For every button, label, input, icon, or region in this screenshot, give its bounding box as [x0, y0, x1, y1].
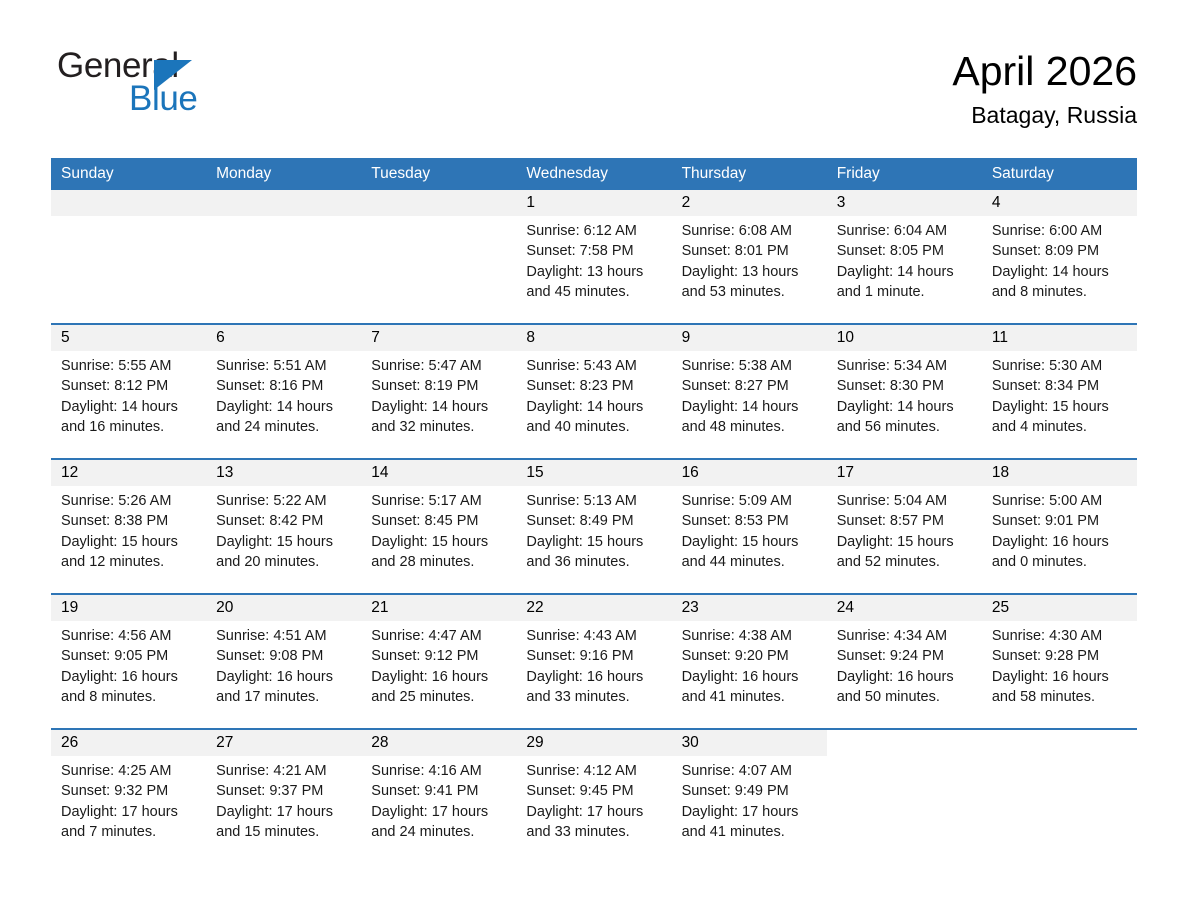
- day-detail-line: Sunrise: 4:25 AM: [61, 761, 196, 781]
- day-detail-line: and 4 minutes.: [992, 417, 1127, 437]
- day-number-band: 7: [361, 325, 516, 351]
- day-number-band: 27: [206, 730, 361, 756]
- day-detail-line: and 50 minutes.: [837, 687, 972, 707]
- day-detail-line: Sunrise: 4:07 AM: [682, 761, 817, 781]
- day-number: 9: [682, 329, 691, 346]
- day-number-band: 29: [516, 730, 671, 756]
- calendar-day-cell[interactable]: 4Sunrise: 6:00 AMSunset: 8:09 PMDaylight…: [982, 190, 1137, 324]
- day-detail-line: Daylight: 15 hours: [61, 532, 196, 552]
- day-number-band: 6: [206, 325, 361, 351]
- calendar-day-cell[interactable]: 21Sunrise: 4:47 AMSunset: 9:12 PMDayligh…: [361, 594, 516, 729]
- day-detail-line: Sunset: 9:32 PM: [61, 781, 196, 801]
- day-cell-details: Sunrise: 6:04 AMSunset: 8:05 PMDaylight:…: [827, 216, 982, 302]
- day-cell-details: Sunrise: 4:30 AMSunset: 9:28 PMDaylight:…: [982, 621, 1137, 707]
- day-number-band: 11: [982, 325, 1137, 351]
- day-number-band: 30: [672, 730, 827, 756]
- day-number: 14: [371, 464, 388, 481]
- day-detail-line: Sunrise: 4:21 AM: [216, 761, 351, 781]
- day-detail-line: and 41 minutes.: [682, 687, 817, 707]
- day-cell-details: Sunrise: 5:34 AMSunset: 8:30 PMDaylight:…: [827, 351, 982, 437]
- day-detail-line: Sunrise: 5:47 AM: [371, 356, 506, 376]
- calendar-header-row: SundayMondayTuesdayWednesdayThursdayFrid…: [51, 158, 1137, 190]
- day-detail-line: Sunset: 8:45 PM: [371, 511, 506, 531]
- calendar-empty-cell: [361, 190, 516, 324]
- day-cell-details: [361, 216, 516, 221]
- day-detail-line: and 36 minutes.: [526, 552, 661, 572]
- day-detail-line: Daylight: 13 hours: [682, 262, 817, 282]
- day-detail-line: Sunrise: 4:47 AM: [371, 626, 506, 646]
- day-detail-line: and 8 minutes.: [61, 687, 196, 707]
- day-number-band: 19: [51, 595, 206, 621]
- weekday-header-wednesday: Wednesday: [516, 158, 671, 190]
- weekday-header-sunday: Sunday: [51, 158, 206, 190]
- day-detail-line: Sunset: 8:05 PM: [837, 241, 972, 261]
- day-cell-details: Sunrise: 4:56 AMSunset: 9:05 PMDaylight:…: [51, 621, 206, 707]
- calendar-day-cell[interactable]: 10Sunrise: 5:34 AMSunset: 8:30 PMDayligh…: [827, 324, 982, 459]
- day-cell-details: Sunrise: 6:08 AMSunset: 8:01 PMDaylight:…: [672, 216, 827, 302]
- weekday-header-saturday: Saturday: [982, 158, 1137, 190]
- day-number: 4: [992, 194, 1001, 211]
- day-cell-details: Sunrise: 5:17 AMSunset: 8:45 PMDaylight:…: [361, 486, 516, 572]
- day-detail-line: Daylight: 16 hours: [837, 667, 972, 687]
- day-detail-line: Sunrise: 4:38 AM: [682, 626, 817, 646]
- day-detail-line: and 15 minutes.: [216, 822, 351, 842]
- calendar-week-row: 5Sunrise: 5:55 AMSunset: 8:12 PMDaylight…: [51, 324, 1137, 459]
- day-cell-details: Sunrise: 4:21 AMSunset: 9:37 PMDaylight:…: [206, 756, 361, 842]
- day-detail-line: Sunset: 8:42 PM: [216, 511, 351, 531]
- day-number: 28: [371, 734, 388, 751]
- calendar-day-cell[interactable]: 13Sunrise: 5:22 AMSunset: 8:42 PMDayligh…: [206, 459, 361, 594]
- day-detail-line: Sunset: 7:58 PM: [526, 241, 661, 261]
- day-detail-line: Sunrise: 5:30 AM: [992, 356, 1127, 376]
- day-detail-line: Sunset: 8:30 PM: [837, 376, 972, 396]
- day-number: 27: [216, 734, 233, 751]
- day-number-band: 22: [516, 595, 671, 621]
- day-detail-line: Sunrise: 4:43 AM: [526, 626, 661, 646]
- day-number-band: 8: [516, 325, 671, 351]
- weekday-header-monday: Monday: [206, 158, 361, 190]
- day-detail-line: Sunset: 9:01 PM: [992, 511, 1127, 531]
- day-detail-line: and 45 minutes.: [526, 282, 661, 302]
- day-detail-line: Sunrise: 5:09 AM: [682, 491, 817, 511]
- calendar-page: General Blue April 2026 Batagay, Russia …: [0, 0, 1188, 918]
- day-detail-line: Sunset: 8:49 PM: [526, 511, 661, 531]
- calendar-day-cell[interactable]: 19Sunrise: 4:56 AMSunset: 9:05 PMDayligh…: [51, 594, 206, 729]
- day-cell-details: Sunrise: 5:43 AMSunset: 8:23 PMDaylight:…: [516, 351, 671, 437]
- day-detail-line: Daylight: 15 hours: [371, 532, 506, 552]
- day-number: 11: [992, 329, 1008, 346]
- day-cell-details: Sunrise: 4:43 AMSunset: 9:16 PMDaylight:…: [516, 621, 671, 707]
- day-number: 18: [992, 464, 1009, 481]
- day-cell-details: Sunrise: 5:09 AMSunset: 8:53 PMDaylight:…: [672, 486, 827, 572]
- page-header: General Blue April 2026 Batagay, Russia: [51, 46, 1137, 146]
- day-detail-line: Sunset: 9:28 PM: [992, 646, 1127, 666]
- calendar-day-cell[interactable]: 22Sunrise: 4:43 AMSunset: 9:16 PMDayligh…: [516, 594, 671, 729]
- calendar-empty-cell: [982, 729, 1137, 863]
- day-detail-line: Sunrise: 6:00 AM: [992, 221, 1127, 241]
- calendar-week-row: 26Sunrise: 4:25 AMSunset: 9:32 PMDayligh…: [51, 729, 1137, 863]
- day-detail-line: and 56 minutes.: [837, 417, 972, 437]
- day-detail-line: Sunrise: 5:00 AM: [992, 491, 1127, 511]
- day-number-band: 12: [51, 460, 206, 486]
- day-detail-line: Sunrise: 5:13 AM: [526, 491, 661, 511]
- calendar-week-row: 12Sunrise: 5:26 AMSunset: 8:38 PMDayligh…: [51, 459, 1137, 594]
- day-cell-details: Sunrise: 4:07 AMSunset: 9:49 PMDaylight:…: [672, 756, 827, 842]
- calendar-day-cell[interactable]: 12Sunrise: 5:26 AMSunset: 8:38 PMDayligh…: [51, 459, 206, 594]
- day-number: 22: [526, 599, 543, 616]
- day-detail-line: and 44 minutes.: [682, 552, 817, 572]
- day-detail-line: Daylight: 16 hours: [526, 667, 661, 687]
- day-number-band: 13: [206, 460, 361, 486]
- calendar-day-cell[interactable]: 6Sunrise: 5:51 AMSunset: 8:16 PMDaylight…: [206, 324, 361, 459]
- day-number-band: 25: [982, 595, 1137, 621]
- day-number-band: 14: [361, 460, 516, 486]
- day-detail-line: Sunrise: 4:56 AM: [61, 626, 196, 646]
- day-detail-line: and 7 minutes.: [61, 822, 196, 842]
- calendar-day-cell[interactable]: 17Sunrise: 5:04 AMSunset: 8:57 PMDayligh…: [827, 459, 982, 594]
- day-detail-line: Sunrise: 4:34 AM: [837, 626, 972, 646]
- calendar-day-cell[interactable]: 1Sunrise: 6:12 AMSunset: 7:58 PMDaylight…: [516, 190, 671, 324]
- day-detail-line: Daylight: 16 hours: [61, 667, 196, 687]
- day-detail-line: and 53 minutes.: [682, 282, 817, 302]
- day-number-band: [827, 730, 982, 756]
- day-detail-line: Sunrise: 4:51 AM: [216, 626, 351, 646]
- day-cell-details: [982, 756, 1137, 761]
- day-detail-line: Sunset: 8:27 PM: [682, 376, 817, 396]
- calendar-day-cell[interactable]: 8Sunrise: 5:43 AMSunset: 8:23 PMDaylight…: [516, 324, 671, 459]
- day-number-band: 2: [672, 190, 827, 216]
- day-number-band: [982, 730, 1137, 756]
- calendar-day-cell[interactable]: 5Sunrise: 5:55 AMSunset: 8:12 PMDaylight…: [51, 324, 206, 459]
- day-detail-line: Sunrise: 4:16 AM: [371, 761, 506, 781]
- day-detail-line: and 48 minutes.: [682, 417, 817, 437]
- day-number: 2: [682, 194, 691, 211]
- calendar-empty-cell: [206, 190, 361, 324]
- day-number: 29: [526, 734, 543, 751]
- day-cell-details: Sunrise: 5:26 AMSunset: 8:38 PMDaylight:…: [51, 486, 206, 572]
- day-cell-details: [206, 216, 361, 221]
- day-detail-line: Daylight: 15 hours: [216, 532, 351, 552]
- day-number: 1: [526, 194, 535, 211]
- day-number-band: 10: [827, 325, 982, 351]
- day-number: 30: [682, 734, 699, 751]
- day-cell-details: Sunrise: 5:22 AMSunset: 8:42 PMDaylight:…: [206, 486, 361, 572]
- page-subtitle-location: Batagay, Russia: [952, 100, 1137, 130]
- calendar-day-cell[interactable]: 27Sunrise: 4:21 AMSunset: 9:37 PMDayligh…: [206, 729, 361, 863]
- day-number-band: 17: [827, 460, 982, 486]
- calendar-day-cell[interactable]: 2Sunrise: 6:08 AMSunset: 8:01 PMDaylight…: [672, 190, 827, 324]
- calendar-empty-cell: [827, 729, 982, 863]
- day-number: 3: [837, 194, 846, 211]
- day-detail-line: Daylight: 15 hours: [992, 397, 1127, 417]
- day-number: 17: [837, 464, 854, 481]
- calendar-day-cell[interactable]: 23Sunrise: 4:38 AMSunset: 9:20 PMDayligh…: [672, 594, 827, 729]
- day-detail-line: and 32 minutes.: [371, 417, 506, 437]
- day-detail-line: Daylight: 16 hours: [371, 667, 506, 687]
- day-detail-line: Daylight: 14 hours: [992, 262, 1127, 282]
- day-number: 26: [61, 734, 78, 751]
- day-number-band: 26: [51, 730, 206, 756]
- day-detail-line: Sunset: 9:37 PM: [216, 781, 351, 801]
- day-detail-line: Daylight: 14 hours: [837, 397, 972, 417]
- day-cell-details: Sunrise: 4:12 AMSunset: 9:45 PMDaylight:…: [516, 756, 671, 842]
- day-number-band: [51, 190, 206, 216]
- calendar-day-cell[interactable]: 15Sunrise: 5:13 AMSunset: 8:49 PMDayligh…: [516, 459, 671, 594]
- day-detail-line: Daylight: 17 hours: [61, 802, 196, 822]
- day-detail-line: Sunrise: 5:26 AM: [61, 491, 196, 511]
- weekday-header-tuesday: Tuesday: [361, 158, 516, 190]
- calendar-day-cell[interactable]: 3Sunrise: 6:04 AMSunset: 8:05 PMDaylight…: [827, 190, 982, 324]
- calendar-day-cell[interactable]: 28Sunrise: 4:16 AMSunset: 9:41 PMDayligh…: [361, 729, 516, 863]
- day-detail-line: Daylight: 14 hours: [216, 397, 351, 417]
- day-number-band: 15: [516, 460, 671, 486]
- day-number-band: 28: [361, 730, 516, 756]
- day-number: 12: [61, 464, 78, 481]
- day-detail-line: and 33 minutes.: [526, 687, 661, 707]
- day-detail-line: Sunset: 8:12 PM: [61, 376, 196, 396]
- day-cell-details: Sunrise: 4:38 AMSunset: 9:20 PMDaylight:…: [672, 621, 827, 707]
- day-detail-line: Daylight: 15 hours: [682, 532, 817, 552]
- day-detail-line: Daylight: 16 hours: [992, 532, 1127, 552]
- day-detail-line: Daylight: 16 hours: [992, 667, 1127, 687]
- day-cell-details: Sunrise: 4:25 AMSunset: 9:32 PMDaylight:…: [51, 756, 206, 842]
- calendar-grid: SundayMondayTuesdayWednesdayThursdayFrid…: [51, 158, 1137, 863]
- calendar-day-cell[interactable]: 11Sunrise: 5:30 AMSunset: 8:34 PMDayligh…: [982, 324, 1137, 459]
- day-detail-line: and 24 minutes.: [371, 822, 506, 842]
- day-cell-details: Sunrise: 5:55 AMSunset: 8:12 PMDaylight:…: [51, 351, 206, 437]
- day-number-band: [206, 190, 361, 216]
- day-detail-line: Sunset: 9:41 PM: [371, 781, 506, 801]
- day-number-band: 21: [361, 595, 516, 621]
- calendar-day-cell[interactable]: 29Sunrise: 4:12 AMSunset: 9:45 PMDayligh…: [516, 729, 671, 863]
- day-detail-line: Sunrise: 6:04 AM: [837, 221, 972, 241]
- day-detail-line: Sunrise: 5:22 AM: [216, 491, 351, 511]
- day-detail-line: Daylight: 14 hours: [61, 397, 196, 417]
- calendar-day-cell[interactable]: 14Sunrise: 5:17 AMSunset: 8:45 PMDayligh…: [361, 459, 516, 594]
- day-detail-line: and 20 minutes.: [216, 552, 351, 572]
- calendar-body: 1Sunrise: 6:12 AMSunset: 7:58 PMDaylight…: [51, 190, 1137, 863]
- day-number-band: 18: [982, 460, 1137, 486]
- day-number: 7: [371, 329, 380, 346]
- day-detail-line: Sunrise: 5:17 AM: [371, 491, 506, 511]
- day-cell-details: Sunrise: 4:16 AMSunset: 9:41 PMDaylight:…: [361, 756, 516, 842]
- day-cell-details: Sunrise: 4:34 AMSunset: 9:24 PMDaylight:…: [827, 621, 982, 707]
- day-number: 24: [837, 599, 854, 616]
- day-detail-line: Sunset: 8:09 PM: [992, 241, 1127, 261]
- day-number: 15: [526, 464, 543, 481]
- generalblue-logo[interactable]: General Blue: [51, 46, 321, 126]
- day-cell-details: Sunrise: 5:30 AMSunset: 8:34 PMDaylight:…: [982, 351, 1137, 437]
- calendar-day-cell[interactable]: 16Sunrise: 5:09 AMSunset: 8:53 PMDayligh…: [672, 459, 827, 594]
- day-detail-line: Sunrise: 6:12 AM: [526, 221, 661, 241]
- day-cell-details: Sunrise: 4:51 AMSunset: 9:08 PMDaylight:…: [206, 621, 361, 707]
- day-number: 10: [837, 329, 854, 346]
- day-number: 19: [61, 599, 78, 616]
- day-detail-line: and 12 minutes.: [61, 552, 196, 572]
- day-detail-line: and 41 minutes.: [682, 822, 817, 842]
- day-detail-line: and 33 minutes.: [526, 822, 661, 842]
- day-detail-line: and 0 minutes.: [992, 552, 1127, 572]
- calendar-day-cell[interactable]: 24Sunrise: 4:34 AMSunset: 9:24 PMDayligh…: [827, 594, 982, 729]
- day-number: 16: [682, 464, 699, 481]
- calendar-week-row: 1Sunrise: 6:12 AMSunset: 7:58 PMDaylight…: [51, 190, 1137, 324]
- day-number: 13: [216, 464, 233, 481]
- day-number-band: 1: [516, 190, 671, 216]
- day-detail-line: Daylight: 15 hours: [526, 532, 661, 552]
- title-block: April 2026 Batagay, Russia: [952, 46, 1137, 130]
- day-detail-line: Daylight: 14 hours: [682, 397, 817, 417]
- day-detail-line: Daylight: 16 hours: [682, 667, 817, 687]
- day-detail-line: Sunrise: 5:51 AM: [216, 356, 351, 376]
- day-number: 8: [526, 329, 535, 346]
- day-cell-details: Sunrise: 6:12 AMSunset: 7:58 PMDaylight:…: [516, 216, 671, 302]
- day-number-band: 20: [206, 595, 361, 621]
- day-cell-details: Sunrise: 4:47 AMSunset: 9:12 PMDaylight:…: [361, 621, 516, 707]
- day-number: 21: [371, 599, 388, 616]
- calendar-day-cell[interactable]: 26Sunrise: 4:25 AMSunset: 9:32 PMDayligh…: [51, 729, 206, 863]
- day-detail-line: Sunset: 8:01 PM: [682, 241, 817, 261]
- day-cell-details: Sunrise: 6:00 AMSunset: 8:09 PMDaylight:…: [982, 216, 1137, 302]
- day-detail-line: Sunrise: 6:08 AM: [682, 221, 817, 241]
- day-cell-details: Sunrise: 5:47 AMSunset: 8:19 PMDaylight:…: [361, 351, 516, 437]
- day-number: 6: [216, 329, 225, 346]
- day-number-band: 16: [672, 460, 827, 486]
- day-detail-line: Sunset: 8:57 PM: [837, 511, 972, 531]
- calendar-week-row: 19Sunrise: 4:56 AMSunset: 9:05 PMDayligh…: [51, 594, 1137, 729]
- day-number-band: 9: [672, 325, 827, 351]
- calendar-day-cell[interactable]: 30Sunrise: 4:07 AMSunset: 9:49 PMDayligh…: [672, 729, 827, 863]
- day-number-band: 23: [672, 595, 827, 621]
- day-detail-line: and 40 minutes.: [526, 417, 661, 437]
- day-detail-line: and 17 minutes.: [216, 687, 351, 707]
- day-detail-line: Sunset: 8:53 PM: [682, 511, 817, 531]
- day-detail-line: Daylight: 17 hours: [371, 802, 506, 822]
- calendar-day-cell[interactable]: 18Sunrise: 5:00 AMSunset: 9:01 PMDayligh…: [982, 459, 1137, 594]
- day-detail-line: Sunset: 8:38 PM: [61, 511, 196, 531]
- day-cell-details: Sunrise: 5:38 AMSunset: 8:27 PMDaylight:…: [672, 351, 827, 437]
- day-detail-line: and 58 minutes.: [992, 687, 1127, 707]
- day-cell-details: [51, 216, 206, 221]
- day-detail-line: Daylight: 14 hours: [371, 397, 506, 417]
- day-detail-line: Sunset: 9:24 PM: [837, 646, 972, 666]
- day-number-band: [361, 190, 516, 216]
- day-detail-line: Sunrise: 5:43 AM: [526, 356, 661, 376]
- day-detail-line: Daylight: 15 hours: [837, 532, 972, 552]
- day-detail-line: and 16 minutes.: [61, 417, 196, 437]
- weekday-header-friday: Friday: [827, 158, 982, 190]
- day-detail-line: Daylight: 14 hours: [526, 397, 661, 417]
- day-detail-line: and 1 minute.: [837, 282, 972, 302]
- calendar-day-cell[interactable]: 25Sunrise: 4:30 AMSunset: 9:28 PMDayligh…: [982, 594, 1137, 729]
- day-cell-details: [827, 756, 982, 761]
- day-number-band: 3: [827, 190, 982, 216]
- day-number-band: 4: [982, 190, 1137, 216]
- calendar-day-cell[interactable]: 9Sunrise: 5:38 AMSunset: 8:27 PMDaylight…: [672, 324, 827, 459]
- logo-text-blue: Blue: [129, 79, 197, 119]
- day-detail-line: Daylight: 16 hours: [216, 667, 351, 687]
- day-detail-line: Daylight: 17 hours: [526, 802, 661, 822]
- day-detail-line: Sunset: 8:19 PM: [371, 376, 506, 396]
- day-detail-line: Sunrise: 5:38 AM: [682, 356, 817, 376]
- day-detail-line: Sunset: 9:08 PM: [216, 646, 351, 666]
- day-detail-line: Sunset: 9:16 PM: [526, 646, 661, 666]
- day-detail-line: Sunset: 9:20 PM: [682, 646, 817, 666]
- day-detail-line: and 52 minutes.: [837, 552, 972, 572]
- day-number-band: 5: [51, 325, 206, 351]
- day-number-band: 24: [827, 595, 982, 621]
- day-detail-line: and 24 minutes.: [216, 417, 351, 437]
- day-number: 5: [61, 329, 70, 346]
- day-number: 20: [216, 599, 233, 616]
- day-cell-details: Sunrise: 5:00 AMSunset: 9:01 PMDaylight:…: [982, 486, 1137, 572]
- calendar-empty-cell: [51, 190, 206, 324]
- day-detail-line: Sunrise: 5:04 AM: [837, 491, 972, 511]
- day-detail-line: Sunrise: 5:55 AM: [61, 356, 196, 376]
- day-cell-details: Sunrise: 5:13 AMSunset: 8:49 PMDaylight:…: [516, 486, 671, 572]
- day-cell-details: Sunrise: 5:51 AMSunset: 8:16 PMDaylight:…: [206, 351, 361, 437]
- page-title: April 2026: [952, 46, 1137, 96]
- day-number: 23: [682, 599, 699, 616]
- day-detail-line: Daylight: 17 hours: [682, 802, 817, 822]
- day-detail-line: Sunset: 8:34 PM: [992, 376, 1127, 396]
- day-number: 25: [992, 599, 1009, 616]
- day-detail-line: Sunset: 8:23 PM: [526, 376, 661, 396]
- day-detail-line: Sunset: 9:49 PM: [682, 781, 817, 801]
- day-detail-line: Sunset: 8:16 PM: [216, 376, 351, 396]
- day-detail-line: Sunset: 9:45 PM: [526, 781, 661, 801]
- day-detail-line: Sunrise: 5:34 AM: [837, 356, 972, 376]
- day-detail-line: and 25 minutes.: [371, 687, 506, 707]
- day-detail-line: Sunrise: 4:12 AM: [526, 761, 661, 781]
- day-detail-line: Daylight: 13 hours: [526, 262, 661, 282]
- day-detail-line: Sunset: 9:12 PM: [371, 646, 506, 666]
- day-detail-line: Daylight: 14 hours: [837, 262, 972, 282]
- calendar-day-cell[interactable]: 7Sunrise: 5:47 AMSunset: 8:19 PMDaylight…: [361, 324, 516, 459]
- weekday-header-thursday: Thursday: [672, 158, 827, 190]
- day-detail-line: Sunrise: 4:30 AM: [992, 626, 1127, 646]
- day-detail-line: Sunset: 9:05 PM: [61, 646, 196, 666]
- day-detail-line: and 8 minutes.: [992, 282, 1127, 302]
- day-detail-line: Daylight: 17 hours: [216, 802, 351, 822]
- day-detail-line: and 28 minutes.: [371, 552, 506, 572]
- calendar-day-cell[interactable]: 20Sunrise: 4:51 AMSunset: 9:08 PMDayligh…: [206, 594, 361, 729]
- day-cell-details: Sunrise: 5:04 AMSunset: 8:57 PMDaylight:…: [827, 486, 982, 572]
